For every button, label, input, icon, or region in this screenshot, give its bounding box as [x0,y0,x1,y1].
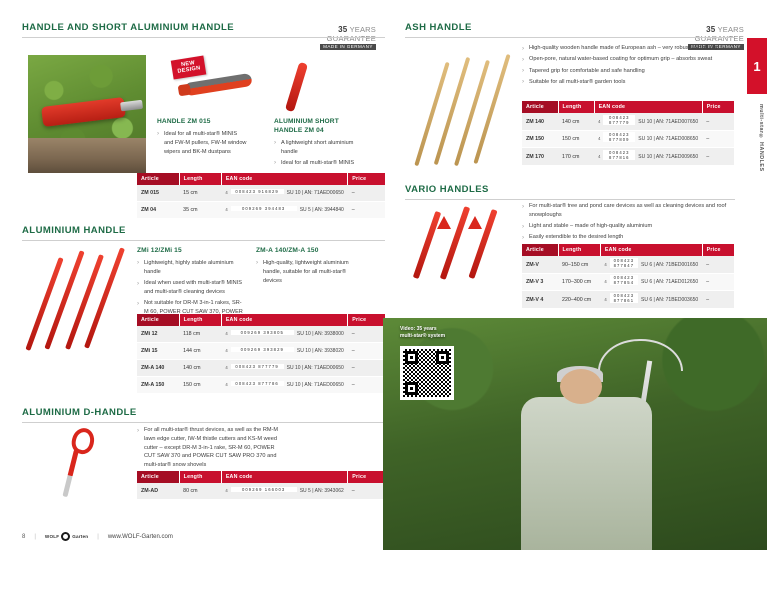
barcode-icon: 009269 393805 [231,334,294,336]
ean-number: 008423 877847 [610,258,638,268]
table-header-row: Article Length EAN code Price [137,471,385,483]
cell-ean: 4 008423 877816 SU 10 | AN: 71AED009650 [594,148,702,166]
column-header-ean: EAN code [600,244,702,256]
ean-meta: SU 10 | AN: 71AED00650 [287,365,344,371]
cell-price: – [348,326,385,343]
product-blurb-zm04: ALUMINIUM SHORT HANDLE ZM 04 A lightweig… [274,118,369,170]
table-aluminium-handle: Article Length EAN code Price ZMi 12 118… [137,314,385,394]
qr-eye-top-right [436,351,449,364]
section-aluminium-handle: ALUMINIUM HANDLE [22,225,385,249]
cell-price: – [702,113,734,130]
section-divider [405,37,735,38]
barcode-icon: 009269 393829 [231,351,294,353]
footer-separator: | [97,534,99,540]
cell-length: 35 cm [179,202,221,219]
cell-article: ZM 150 [522,130,558,148]
barcode-icon: 009269 394483 [231,210,297,212]
person-head [560,369,602,404]
cell-article: ZM 170 [522,148,558,166]
qr-caption: Video: 35 years multi-star® system [400,326,445,340]
product-image-d-handle-shaft [62,449,78,497]
bullet: Suitable for all multi-star® garden tool… [522,78,734,87]
ean-number: 009269 394483 [231,206,297,211]
ean-meta: SU 10 | AN: 71AED00650 [287,190,344,196]
table-header-row: Article Length EAN code Price [137,314,385,326]
ean-lead-digit: 4 [225,382,227,388]
product-image-ash-4 [473,54,510,164]
section-divider [405,199,735,200]
table-row: ZM 015 15 cm 4 008423 916829 SU 10 | AN:… [137,185,385,202]
barcode-icon: 009269 166003 [231,491,297,493]
cell-length: 150 cm [558,130,594,148]
cell-price: – [348,483,385,500]
ean-lead-digit: 4 [604,297,606,303]
bullet: Ideal for all multi-star® MINIS [274,159,369,168]
right-column: ASH HANDLE VARIO HANDLES [405,22,735,46]
wood-surface [28,138,146,173]
cell-length: 118 cm [179,326,221,343]
table-row: ZM-V 4 220–400 cm 4 008423 877861 SU 6 |… [522,291,734,309]
bullet: High-quality, lightweight aluminium hand… [256,259,366,285]
bullet: Light and stable – made of high-quality … [522,222,734,231]
column-header-length: Length [179,471,221,483]
table-row: ZM-V 3 170–300 cm 4 008423 877854 SU 6 |… [522,273,734,291]
ean-number: 008423 916829 [231,189,284,194]
column-header-ean: EAN code [221,173,347,185]
column-header-ean: EAN code [221,314,347,326]
ean-number: 008423 877786 [231,381,284,386]
section-handle-short-alu: HANDLE AND SHORT ALUMINIUM HANDLE [22,22,385,38]
cell-article: ZM-A 140 [137,360,179,377]
ean-number: 008423 877779 [603,115,635,125]
product-image-alu-3 [65,254,104,350]
ean-lead-digit: 4 [225,190,227,196]
cell-article: ZMi 15 [137,343,179,360]
cell-price: – [348,377,385,394]
footer-url[interactable]: www.WOLF-Garten.com [108,534,173,540]
cell-ean: 4 008423 877809 SU 10 | AN: 71AED008650 [594,130,702,148]
table-row: ZMi 12 118 cm 4 009269 393805 SU 10 | AN… [137,326,385,343]
chapter-tab[interactable]: 1 [747,38,767,94]
ean-meta: SU 6 | AN: 71AED012650 [641,279,698,285]
rake-head [598,339,682,371]
column-header-article: Article [137,471,179,483]
cell-length: 90–150 cm [558,256,600,273]
cell-price: – [702,273,734,291]
hedge-trimmer-photo [28,55,146,173]
ean-number: 008423 877816 [603,150,635,160]
ean-lead-digit: 4 [225,365,227,371]
section-title: HANDLE AND SHORT ALUMINIUM HANDLE [22,22,385,37]
logo-text-right: Garten [72,534,88,539]
barcode-icon: 008423 877816 [603,153,635,160]
product-image-alu-2 [44,250,84,349]
bullet: Lightweight, highly stable aluminium han… [137,259,245,277]
cell-article: ZM-AD [137,483,179,500]
bullet: For multi-star® tree and pond care devic… [522,202,734,220]
column-header-price: Price [702,244,734,256]
ean-number: 008423 877809 [603,132,635,142]
product-bullets: High-quality wooden handle made of Europ… [522,44,734,87]
cell-length: 144 cm [179,343,221,360]
left-column: HANDLE AND SHORT ALUMINIUM HANDLE ALUMIN… [22,22,385,46]
ash-handle-bullets: High-quality wooden handle made of Europ… [522,44,734,89]
cell-ean: 4 008423 877854 SU 6 | AN: 71AED012650 [600,273,702,291]
page-number: 8 [22,534,25,540]
product-bullets: For all multi-star® thrust devices, as w… [137,426,282,470]
table-header-row: Article Length EAN code Price [522,101,734,113]
cell-article: ZMi 12 [137,326,179,343]
ean-lead-digit: 4 [225,207,227,213]
product-bullets: A lightweight short aluminium handle Ide… [274,139,369,168]
qr-eye-bottom-left [405,382,418,395]
ean-lead-digit: 4 [604,279,606,285]
qr-code[interactable] [400,346,454,400]
bullet: Ideal when used with multi-star® MINIS a… [137,279,245,297]
cell-ean: 4 008423 877786 SU 10 | AN: 71AED00650 [221,377,347,394]
cell-price: – [348,343,385,360]
ean-meta: SU 10 | AN: 3938000 [297,331,344,337]
table-row: ZM-A 150 150 cm 4 008423 877786 SU 10 | … [137,377,385,394]
product-blurb-d-handle: For all multi-star® thrust devices, as w… [137,426,282,473]
cell-length: 170–300 cm [558,273,600,291]
cell-article: ZM-A 150 [137,377,179,394]
ean-meta: SU 5 | AN: 3944840 [300,207,344,213]
product-image-ash-2 [434,57,471,165]
table-row: ZM-AD 80 cm 4 009269 166003 SU 5 | AN: 3… [137,483,385,500]
cell-ean: 4 009269 394483 SU 5 | AN: 3944840 [221,202,347,219]
person-shirt [521,397,652,550]
ean-meta: SU 10 | AN: 71AED007650 [638,119,698,125]
bullet: Tapered grip for comfortable and safe ha… [522,67,734,76]
page-footer: 8 | WOLF Garten | www.WOLF-Garten.com [22,532,173,541]
logo-mark-icon [61,532,70,541]
barcode-icon: 008423 877854 [610,279,638,286]
chapter-vertical-label: multi-star® HANDLES [758,104,764,172]
ean-lead-digit: 4 [225,488,227,494]
section-divider [22,37,385,38]
barcode-icon: 008423 877786 [231,385,284,387]
column-header-article: Article [522,101,558,113]
qr-eye-top-left [405,351,418,364]
table-row: ZMi 15 144 cm 4 009269 393829 SU 10 | AN… [137,343,385,360]
ean-number: 009269 393805 [231,330,294,335]
column-header-article: Article [137,173,179,185]
column-header-price: Price [348,314,385,326]
ean-number: 009269 166003 [231,487,297,492]
cell-article: ZM-V [522,256,558,273]
column-header-price: Price [348,471,385,483]
cell-article: ZM 04 [137,202,179,219]
ean-meta: SU 5 | AN: 3943062 [300,488,344,494]
product-image-ash-1 [414,62,449,166]
ean-lead-digit: 4 [225,331,227,337]
product-name: ZM-A 140/ZM-A 150 [256,247,366,256]
cell-article: ZM-V 4 [522,291,558,309]
cell-price: – [348,360,385,377]
barcode-icon: 008423 877779 [603,118,635,125]
product-bullets: Ideal for all multi-star® MINIS and FW-M… [157,130,247,156]
product-name: HANDLE ZM 015 [157,118,247,127]
cell-length: 170 cm [558,148,594,166]
cell-length: 80 cm [179,483,221,500]
cell-article: ZM 140 [522,113,558,130]
cell-ean: 4 008423 916829 SU 10 | AN: 71AED00650 [221,185,347,202]
product-image-alu-4 [84,247,125,348]
logo-text-left: WOLF [45,534,59,539]
column-header-length: Length [179,314,221,326]
table-row: ZM 170 170 cm 4 008423 877816 SU 10 | AN… [522,148,734,166]
cell-length: 15 cm [179,185,221,202]
table-alu-d-handle: Article Length EAN code Price ZM-AD 80 c… [137,471,385,500]
arrow-up-icon [468,216,482,229]
table-row: ZM 04 35 cm 4 009269 394483 SU 5 | AN: 3… [137,202,385,219]
column-header-ean: EAN code [594,101,702,113]
cell-ean: 4 009269 166003 SU 5 | AN: 3943062 [221,483,347,500]
cell-price: – [348,202,385,219]
section-title: ALUMINIUM D-HANDLE [22,407,385,422]
wolf-garten-logo: WOLF Garten [45,532,88,541]
table-header-row: Article Length EAN code Price [137,173,385,185]
cell-ean: 4 008423 877779 SU 10 | AN: 71AED007650 [594,113,702,130]
cell-price: – [702,130,734,148]
product-blurb-zm015: HANDLE ZM 015 Ideal for all multi-star® … [157,118,247,159]
product-image-zm015 [185,73,252,96]
ean-meta: SU 6 | AN: 71BED001650 [641,262,698,268]
ean-number: 008423 877854 [610,275,638,285]
new-design-badge: NEWDESIGN [171,56,207,80]
bullet: High-quality wooden handle made of Europ… [522,44,734,53]
column-header-length: Length [558,101,594,113]
cell-article: ZM 015 [137,185,179,202]
column-header-article: Article [522,244,558,256]
column-header-ean: EAN code [221,471,347,483]
cell-ean: 4 009269 393805 SU 10 | AN: 3938000 [221,326,347,343]
section-title: ALUMINIUM HANDLE [22,225,385,240]
ean-lead-digit: 4 [598,154,600,160]
column-header-length: Length [558,244,600,256]
barcode-icon: 008423 877809 [603,136,635,143]
product-image-alu-1 [25,257,63,351]
cell-ean: 4 008423 877847 SU 6 | AN: 71BED001650 [600,256,702,273]
cell-price: – [348,185,385,202]
product-bullets: High-quality, lightweight aluminium hand… [256,259,366,285]
bullet: Easily extendible to the desired length [522,233,734,242]
cell-length: 150 cm [179,377,221,394]
section-title: ASH HANDLE [405,22,735,37]
section-title: VARIO HANDLES [405,184,735,199]
product-name: ALUMINIUM SHORT HANDLE ZM 04 [274,118,369,136]
lifestyle-photo: Video: 35 years multi-star® system [383,318,767,550]
qr-caption-line1: Video: 35 years [400,326,437,332]
ean-meta: SU 10 | AN: 3938020 [297,348,344,354]
ean-number: 008423 877779 [231,364,284,369]
barcode-icon: 008423 916829 [231,193,284,195]
ean-lead-digit: 4 [225,348,227,354]
bullet: Ideal for all multi-star® MINIS and FW-M… [157,130,247,156]
catalog-page: 35 YEARS GUARANTEE MADE IN GERMANY 35 YE… [0,0,767,591]
cell-price: – [702,148,734,166]
cell-length: 220–400 cm [558,291,600,309]
column-header-price: Price [348,173,385,185]
cell-ean: 4 009269 393829 SU 10 | AN: 3938020 [221,343,347,360]
cell-article: ZM-V 3 [522,273,558,291]
column-header-article: Article [137,314,179,326]
column-header-length: Length [179,173,221,185]
table-row: ZM-V 90–150 cm 4 008423 877847 SU 6 | AN… [522,256,734,273]
barcode-icon: 008423 877779 [231,368,284,370]
ean-lead-digit: 4 [604,262,606,268]
bullet: Open-pore, natural water-based coating f… [522,55,734,64]
arrow-up-icon [437,216,451,229]
barcode-icon: 008423 877847 [610,261,638,268]
section-ash-handle: ASH HANDLE [405,22,735,38]
qr-caption-line2: multi-star® system [400,333,445,339]
ean-number: 009269 393829 [231,347,294,352]
cell-price: – [702,291,734,309]
table-row: ZM 140 140 cm 4 008423 877779 SU 10 | AN… [522,113,734,130]
column-header-price: Price [702,101,734,113]
ean-meta: SU 10 | AN: 71AED009650 [638,154,698,160]
product-blurb-zma: ZM-A 140/ZM-A 150 High-quality, lightwei… [256,247,366,288]
product-name: ZMi 12/ZMi 15 [137,247,245,256]
ean-meta: SU 10 | AN: 71AED008650 [638,136,698,142]
barcode-icon: 008423 877861 [610,296,638,303]
section-divider [22,422,385,423]
section-divider [22,240,385,241]
table-row: ZM 150 150 cm 4 008423 877809 SU 10 | AN… [522,130,734,148]
table-header-row: Article Length EAN code Price [522,244,734,256]
cell-length: 140 cm [558,113,594,130]
cell-price: – [702,256,734,273]
ean-meta: SU 10 | AN: 71AED00650 [287,382,344,388]
cell-ean: 4 008423 877861 SU 6 | AN: 71BED003650 [600,291,702,309]
cell-ean: 4 008423 877779 SU 10 | AN: 71AED00650 [221,360,347,377]
ean-number: 008423 877861 [610,293,638,303]
footer-separator: | [34,534,36,540]
bullet: For all multi-star® thrust devices, as w… [137,426,282,470]
ean-lead-digit: 4 [598,119,600,125]
hedge-trimmer-product [41,97,125,127]
table-row: ZM-A 140 140 cm 4 008423 877779 SU 10 | … [137,360,385,377]
ean-meta: SU 6 | AN: 71BED003650 [641,297,698,303]
cell-length: 140 cm [179,360,221,377]
bullet: A lightweight short aluminium handle [274,139,369,157]
table-vario-handles: Article Length EAN code Price ZM-V 90–15… [522,244,734,309]
table-ash-handle: Article Length EAN code Price ZM 140 140… [522,101,734,166]
table-handle-short-alu: Article Length EAN code Price ZM 015 15 … [137,173,385,219]
ean-lead-digit: 4 [598,136,600,142]
chapter-number: 1 [753,59,760,74]
product-image-zm04 [285,62,308,112]
